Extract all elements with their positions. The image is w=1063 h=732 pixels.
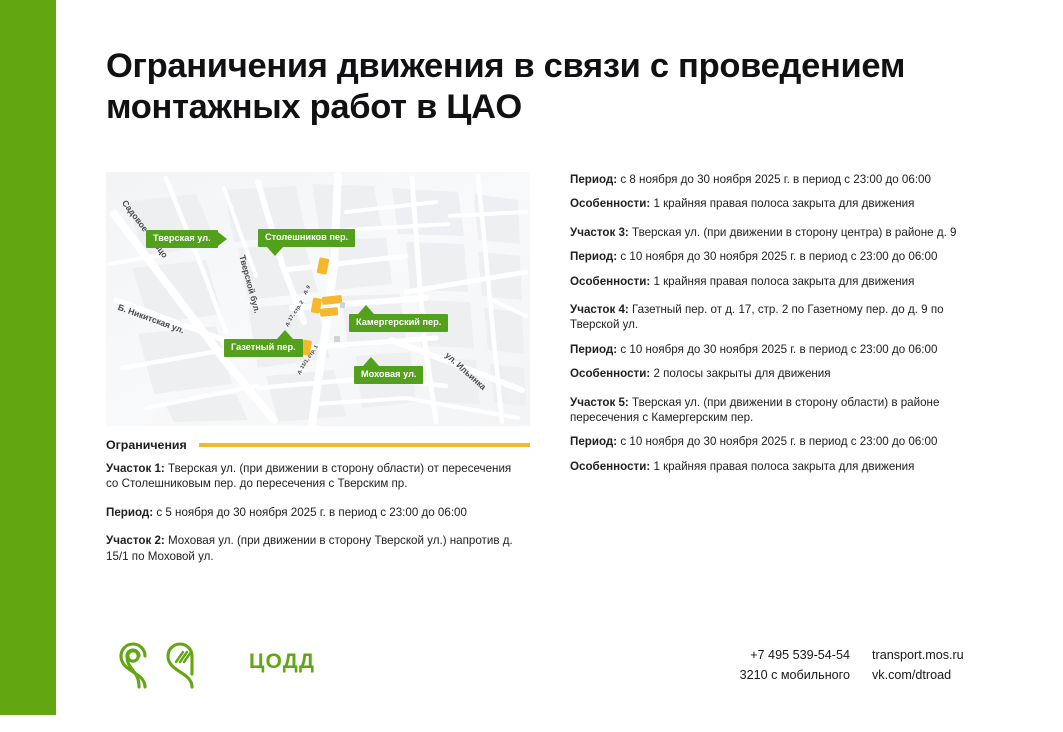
paragraph-text: Тверская ул. (при движении в сторону цен…	[629, 226, 957, 239]
map-tag-label: Камергерский пер.	[356, 317, 441, 327]
restriction-paragraph: Участок 1: Тверская ул. (при движении в …	[106, 461, 526, 492]
restrictions-header-label: Ограничения	[106, 438, 187, 452]
paragraph-key: Особенности:	[570, 460, 650, 473]
paragraph-text: с 5 ноября до 30 ноября 2025 г. в период…	[153, 506, 467, 519]
tag-pointer-icon	[218, 232, 227, 246]
left-text-column: Участок 1: Тверская ул. (при движении в …	[106, 461, 526, 573]
paragraph-key: Период:	[570, 343, 617, 356]
paragraph-key: Период:	[570, 173, 617, 186]
paragraph-text: с 10 ноября до 30 ноября 2025 г. в перио…	[617, 343, 937, 356]
contact-website[interactable]: transport.mos.ru	[872, 646, 964, 666]
restriction-paragraph: Особенности: 2 полосы закрыты для движен…	[570, 366, 994, 381]
restriction-paragraph: Особенности: 1 крайняя правая полоса зак…	[570, 459, 994, 474]
restriction-paragraph: Особенности: 1 крайняя правая полоса зак…	[570, 274, 994, 289]
tag-pointer-icon	[267, 247, 283, 256]
paragraph-text: Моховая ул. (при движении в сторону Твер…	[106, 534, 513, 562]
map-tag-tverskaya[interactable]: Тверская ул.	[146, 230, 218, 248]
map-tag-label: Газетный пер.	[231, 342, 296, 352]
map-graphic	[106, 172, 530, 426]
page-title: Ограничения движения в связи с проведени…	[106, 46, 1006, 129]
paragraph-text: 1 крайняя правая полоса закрыта для движ…	[650, 197, 914, 210]
paragraph-text: с 10 ноября до 30 ноября 2025 г. в перио…	[617, 250, 937, 263]
contact-mobile: 3210 с мобильного	[718, 666, 850, 686]
restriction-paragraph: Участок 5: Тверская ул. (при движении в …	[570, 395, 994, 426]
tag-pointer-icon	[358, 305, 374, 314]
contact-vk[interactable]: vk.com/dtroad	[872, 666, 964, 686]
paragraph-key: Период:	[570, 250, 617, 263]
restriction-paragraph: Период: с 10 ноября до 30 ноября 2025 г.…	[570, 342, 994, 357]
tag-pointer-icon	[363, 357, 379, 366]
restriction-paragraph: Особенности: 1 крайняя правая полоса зак…	[570, 196, 994, 211]
right-text-column: Период: с 8 ноября до 30 ноября 2025 г. …	[570, 172, 994, 483]
map-tag-label: Столешников пер.	[265, 232, 348, 242]
restrictions-header: Ограничения	[106, 438, 530, 452]
restriction-paragraph: Участок 3: Тверская ул. (при движении в …	[570, 225, 994, 240]
map-tag-kamergerskiy[interactable]: Камергерский пер.	[349, 314, 448, 332]
paragraph-key: Период:	[106, 506, 153, 519]
restriction-paragraph: Период: с 10 ноября до 30 ноября 2025 г.…	[570, 434, 994, 449]
contact-phone: +7 495 539-54-54	[718, 646, 850, 666]
paragraph-key: Особенности:	[570, 275, 650, 288]
paragraph-key: Период:	[570, 435, 617, 448]
restriction-paragraph: Период: с 5 ноября до 30 ноября 2025 г. …	[106, 505, 526, 520]
poster-page: Ограничения движения в связи с проведени…	[0, 0, 1063, 732]
paragraph-text: Тверская ул. (при движении в сторону обл…	[106, 462, 511, 490]
map-tag-mokhovaya[interactable]: Моховая ул.	[354, 366, 423, 384]
map-tag-stoleshnikov[interactable]: Столешников пер.	[258, 229, 355, 247]
paragraph-key: Участок 2:	[106, 534, 165, 547]
codd-wordmark: ЦОДД	[249, 650, 315, 674]
paragraph-key: Участок 4:	[570, 303, 629, 316]
paragraph-key: Особенности:	[570, 367, 650, 380]
paragraph-key: Особенности:	[570, 197, 650, 210]
paragraph-text: 1 крайняя правая полоса закрыта для движ…	[650, 460, 914, 473]
footer-contacts: +7 495 539-54-54 3210 с мобильного trans…	[718, 646, 964, 685]
map-tag-label: Тверская ул.	[153, 233, 211, 243]
restriction-paragraph: Участок 2: Моховая ул. (при движении в с…	[106, 533, 526, 564]
restriction-paragraph: Период: с 8 ноября до 30 ноября 2025 г. …	[570, 172, 994, 187]
paragraph-key: Участок 3:	[570, 226, 629, 239]
paragraph-text: с 10 ноября до 30 ноября 2025 г. в перио…	[617, 435, 937, 448]
codd-pin-icon	[112, 634, 240, 690]
paragraph-text: 1 крайняя правая полоса закрыта для движ…	[650, 275, 914, 288]
restriction-paragraph: Участок 4: Газетный пер. от д. 17, стр. …	[570, 302, 994, 333]
codd-logo: ЦОДД	[112, 634, 315, 690]
restriction-map[interactable]: Садовое кольцо Б. Никитская ул. Тверской…	[106, 172, 530, 426]
left-green-bar	[0, 0, 56, 715]
restriction-paragraph: Период: с 10 ноября до 30 ноября 2025 г.…	[570, 249, 994, 264]
map-tag-label: Моховая ул.	[361, 369, 416, 379]
map-tag-gazetny[interactable]: Газетный пер.	[224, 339, 303, 357]
tag-pointer-icon	[277, 330, 293, 339]
paragraph-text: 2 полосы закрыты для движения	[650, 367, 830, 380]
header-divider	[199, 443, 530, 446]
paragraph-key: Участок 1:	[106, 462, 165, 475]
contact-web-block: transport.mos.ru vk.com/dtroad	[872, 646, 964, 685]
paragraph-key: Участок 5:	[570, 396, 629, 409]
contact-phone-block: +7 495 539-54-54 3210 с мобильного	[718, 646, 850, 685]
paragraph-text: с 8 ноября до 30 ноября 2025 г. в период…	[617, 173, 931, 186]
